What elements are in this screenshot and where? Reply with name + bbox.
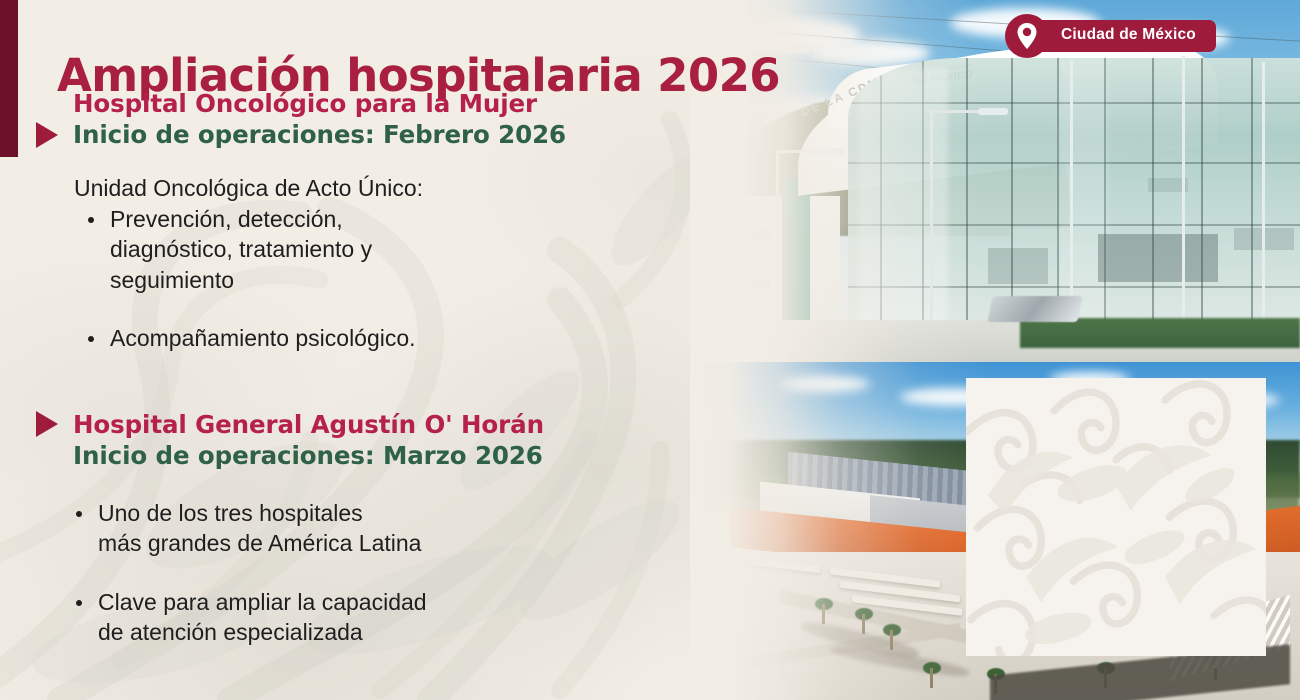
triangle-bullet-icon-1 [36,122,58,148]
map-pin-icon [1005,14,1049,58]
bullet-line: más grandes de América Latina [98,530,421,556]
location-badge[interactable]: Ciudad de México [1005,14,1216,58]
bullet-line: Clave para ampliar la capacidad [98,589,427,615]
list-item: Acompañamiento psicológico. [74,323,504,353]
bullet-line: seguimiento [110,267,234,293]
section-2-subheading: Inicio de operaciones: Marzo 2026 [73,442,543,470]
bullet-line: de atención especializada [98,619,363,645]
list-item: Uno de los tres hospitales más grandes d… [62,498,582,559]
bullet-line: Acompañamiento psicológico. [110,325,416,351]
bullet-line: Uno de los tres hospitales [98,500,363,526]
ornamental-overlay-panel [966,378,1266,656]
slide-root: DE LA CDMX GOBIERNO DE MÉXICO [0,0,1300,700]
text-content: Ampliación hospitalaria 2026 Hospital On… [0,0,700,700]
section-1-subheading: Inicio de operaciones: Febrero 2026 [73,121,566,149]
section-1-bullets: Prevención, detección, diagnóstico, trat… [74,204,504,353]
triangle-bullet-icon-2 [36,411,58,437]
list-item: Prevención, detección, diagnóstico, trat… [74,204,504,295]
bullet-line: diagnóstico, tratamiento y [110,236,372,262]
location-label: Ciudad de México [1035,20,1216,52]
section-2-bullets: Uno de los tres hospitales más grandes d… [62,498,582,647]
section-1-lead: Unidad Oncológica de Acto Único: [74,174,423,203]
photo-column: DE LA CDMX GOBIERNO DE MÉXICO [690,0,1300,700]
list-item: Clave para ampliar la capacidad de atenc… [62,587,582,648]
bullet-line: Prevención, detección, [110,206,343,232]
section-2-heading: Hospital General Agustín O' Horán [73,411,544,439]
section-1-heading: Hospital Oncológico para la Mujer [73,90,537,118]
